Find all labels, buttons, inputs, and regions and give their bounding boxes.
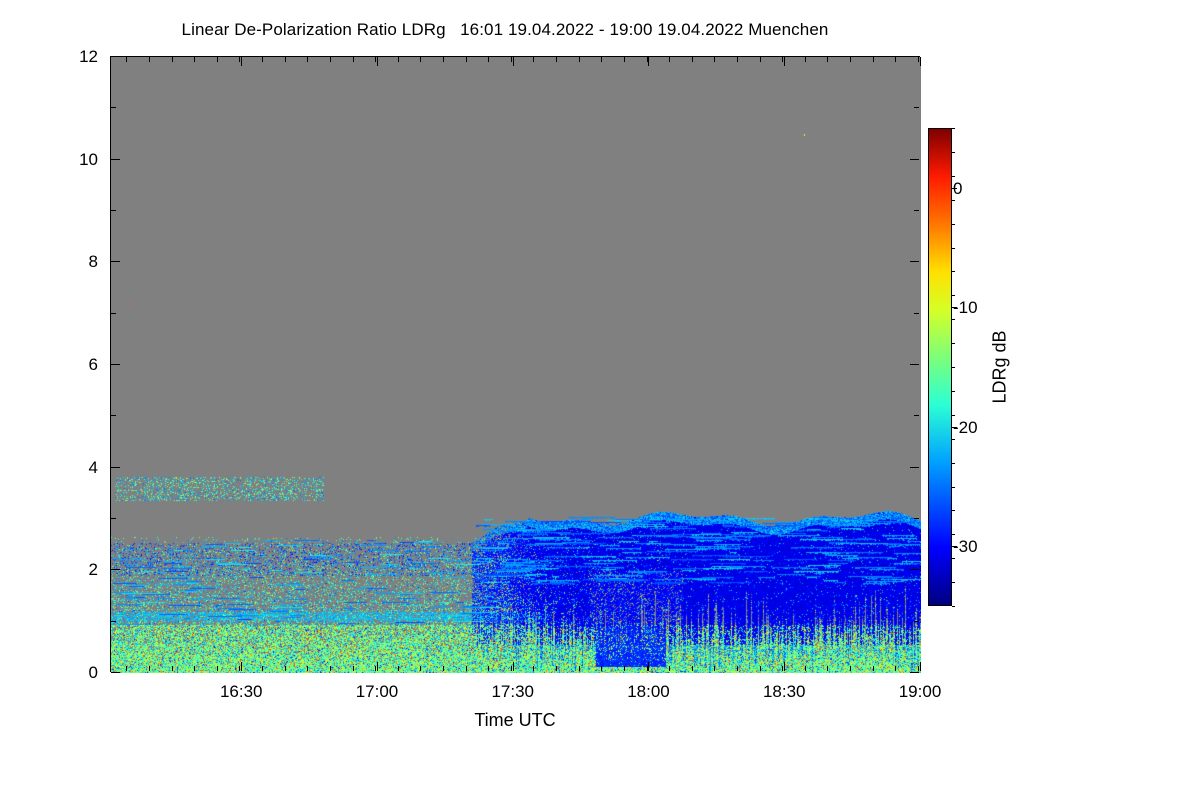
colorbar-tick-label: -30: [953, 537, 978, 557]
x-tick-minor: [239, 666, 240, 671]
x-tick-minor-top: [692, 57, 693, 62]
y-tick-major-right: [910, 672, 919, 673]
x-tick-minor-top: [126, 57, 127, 62]
x-tick-minor: [873, 666, 874, 671]
x-tick-minor: [601, 666, 602, 671]
y-tick-major-right: [910, 467, 919, 468]
x-tick-minor-top: [714, 57, 715, 62]
y-tick-minor-right: [914, 518, 919, 519]
x-tick-minor: [443, 666, 444, 671]
x-tick-minor-top: [850, 57, 851, 62]
y-tick-minor-right: [914, 313, 919, 314]
y-tick-major: [111, 56, 120, 57]
x-tick-minor: [149, 666, 150, 671]
colorbar-tick-minor: [952, 128, 955, 129]
x-tick-minor: [692, 666, 693, 671]
ldr-heatmap-canvas: [111, 57, 921, 673]
y-tick-major-right: [910, 569, 919, 570]
colorbar-tick-minor: [952, 200, 955, 201]
chart-title: Linear De-Polarization Ratio LDRg 16:01 …: [0, 20, 1010, 40]
y-tick-minor-right: [914, 621, 919, 622]
y-tick-label: 10: [0, 150, 98, 170]
chart-root: Linear De-Polarization Ratio LDRg 16:01 …: [0, 0, 1200, 800]
y-tick-minor-right: [914, 107, 919, 108]
x-tick-minor: [827, 666, 828, 671]
x-tick-minor-top: [488, 57, 489, 62]
x-tick-minor: [918, 666, 919, 671]
x-tick-minor-top: [375, 57, 376, 62]
x-tick-major: [920, 662, 921, 671]
x-tick-major-top: [241, 57, 242, 66]
x-tick-minor: [262, 666, 263, 671]
x-tick-label: 16:30: [220, 682, 263, 702]
x-tick-minor-top: [760, 57, 761, 62]
x-tick-minor-top: [737, 57, 738, 62]
y-tick-minor: [111, 621, 116, 622]
x-tick-minor: [285, 666, 286, 671]
colorbar-tick-minor: [952, 391, 955, 392]
x-tick-minor: [217, 666, 218, 671]
y-tick-label: 0: [0, 663, 98, 683]
y-tick-major: [111, 159, 120, 160]
x-tick-major: [241, 662, 242, 671]
y-tick-minor: [111, 313, 116, 314]
colorbar-tick-minor: [952, 415, 955, 416]
x-tick-minor: [737, 666, 738, 671]
x-tick-minor: [420, 666, 421, 671]
colorbar-tick-minor: [952, 271, 955, 272]
x-tick-label: 19:00: [899, 682, 942, 702]
colorbar-tick-label: -10: [953, 298, 978, 318]
colorbar-gradient: [929, 129, 951, 605]
y-tick-minor-right: [914, 415, 919, 416]
x-tick-minor: [714, 666, 715, 671]
x-tick-label: 18:30: [763, 682, 806, 702]
x-tick-label: 18:00: [627, 682, 670, 702]
x-tick-minor-top: [647, 57, 648, 62]
y-tick-label: 8: [0, 252, 98, 272]
colorbar-tick-minor: [952, 534, 955, 535]
x-tick-minor: [126, 666, 127, 671]
x-tick-minor: [398, 666, 399, 671]
y-tick-minor: [111, 210, 116, 211]
colorbar-tick-minor: [952, 248, 955, 249]
plot-area: [110, 56, 920, 672]
x-tick-minor-top: [873, 57, 874, 62]
y-tick-major: [111, 261, 120, 262]
x-tick-minor-top: [149, 57, 150, 62]
colorbar-tick-minor: [952, 295, 955, 296]
x-tick-minor: [533, 666, 534, 671]
x-tick-major: [648, 662, 649, 671]
colorbar-tick-minor: [952, 367, 955, 368]
colorbar-tick-minor: [952, 487, 955, 488]
x-tick-minor: [194, 666, 195, 671]
x-tick-major-top: [784, 57, 785, 66]
x-tick-minor-top: [466, 57, 467, 62]
x-tick-minor-top: [239, 57, 240, 62]
x-tick-minor: [375, 666, 376, 671]
x-tick-label: 17:00: [356, 682, 399, 702]
x-tick-minor: [579, 666, 580, 671]
colorbar-label: LDRg dB: [990, 330, 1011, 403]
y-tick-major-right: [910, 159, 919, 160]
y-tick-major: [111, 672, 120, 673]
x-tick-minor-top: [782, 57, 783, 62]
colorbar-tick-minor: [952, 343, 955, 344]
y-tick-major: [111, 569, 120, 570]
colorbar-tick-minor: [952, 606, 955, 607]
y-tick-major-right: [910, 261, 919, 262]
x-tick-minor-top: [398, 57, 399, 62]
colorbar-tick-minor: [952, 463, 955, 464]
y-tick-label: 12: [0, 47, 98, 67]
x-tick-minor-top: [918, 57, 919, 62]
x-tick-major-top: [513, 57, 514, 66]
y-tick-label: 2: [0, 560, 98, 580]
y-tick-minor: [111, 107, 116, 108]
x-tick-label: 17:30: [491, 682, 534, 702]
colorbar-tick-minor: [952, 439, 955, 440]
y-tick-minor: [111, 415, 116, 416]
x-tick-minor: [556, 666, 557, 671]
x-tick-minor-top: [443, 57, 444, 62]
x-tick-minor: [647, 666, 648, 671]
x-tick-minor-top: [330, 57, 331, 62]
colorbar-tick-label: 0: [953, 179, 962, 199]
x-tick-minor-top: [194, 57, 195, 62]
x-tick-minor: [782, 666, 783, 671]
x-tick-major: [784, 662, 785, 671]
y-tick-major: [111, 364, 120, 365]
colorbar-tick-minor: [952, 582, 955, 583]
x-tick-minor: [850, 666, 851, 671]
x-tick-minor: [624, 666, 625, 671]
x-tick-minor-top: [895, 57, 896, 62]
x-tick-minor-top: [353, 57, 354, 62]
colorbar-tick-minor: [952, 319, 955, 320]
colorbar: [928, 128, 952, 606]
x-tick-minor-top: [579, 57, 580, 62]
x-tick-minor-top: [669, 57, 670, 62]
x-tick-minor: [669, 666, 670, 671]
x-tick-minor: [353, 666, 354, 671]
x-tick-minor: [172, 666, 173, 671]
x-tick-minor: [760, 666, 761, 671]
x-axis-label: Time UTC: [474, 710, 555, 731]
x-tick-minor-top: [285, 57, 286, 62]
colorbar-tick-minor: [952, 176, 955, 177]
x-tick-minor-top: [307, 57, 308, 62]
colorbar-tick-minor: [952, 152, 955, 153]
y-tick-major-right: [910, 364, 919, 365]
colorbar-tick-minor: [952, 558, 955, 559]
x-tick-minor-top: [420, 57, 421, 62]
colorbar-tick-label: -20: [953, 418, 978, 438]
y-tick-major: [111, 467, 120, 468]
x-tick-minor-top: [533, 57, 534, 62]
x-tick-major-top: [377, 57, 378, 66]
y-tick-label: 4: [0, 458, 98, 478]
x-tick-minor: [466, 666, 467, 671]
x-tick-minor-top: [805, 57, 806, 62]
x-tick-minor-top: [172, 57, 173, 62]
x-tick-minor: [307, 666, 308, 671]
x-tick-major-top: [648, 57, 649, 66]
x-tick-minor: [511, 666, 512, 671]
x-tick-minor: [895, 666, 896, 671]
colorbar-tick-minor: [952, 224, 955, 225]
x-tick-minor-top: [217, 57, 218, 62]
x-tick-major: [513, 662, 514, 671]
x-tick-major: [377, 662, 378, 671]
x-tick-minor-top: [624, 57, 625, 62]
y-tick-minor-right: [914, 210, 919, 211]
x-tick-major-top: [920, 57, 921, 66]
x-tick-minor: [330, 666, 331, 671]
colorbar-tick-minor: [952, 510, 955, 511]
y-tick-label: 6: [0, 355, 98, 375]
x-tick-minor-top: [511, 57, 512, 62]
x-tick-minor: [805, 666, 806, 671]
x-tick-minor-top: [827, 57, 828, 62]
x-tick-minor: [488, 666, 489, 671]
x-tick-minor-top: [556, 57, 557, 62]
x-tick-minor-top: [601, 57, 602, 62]
x-tick-minor-top: [262, 57, 263, 62]
y-tick-minor: [111, 518, 116, 519]
